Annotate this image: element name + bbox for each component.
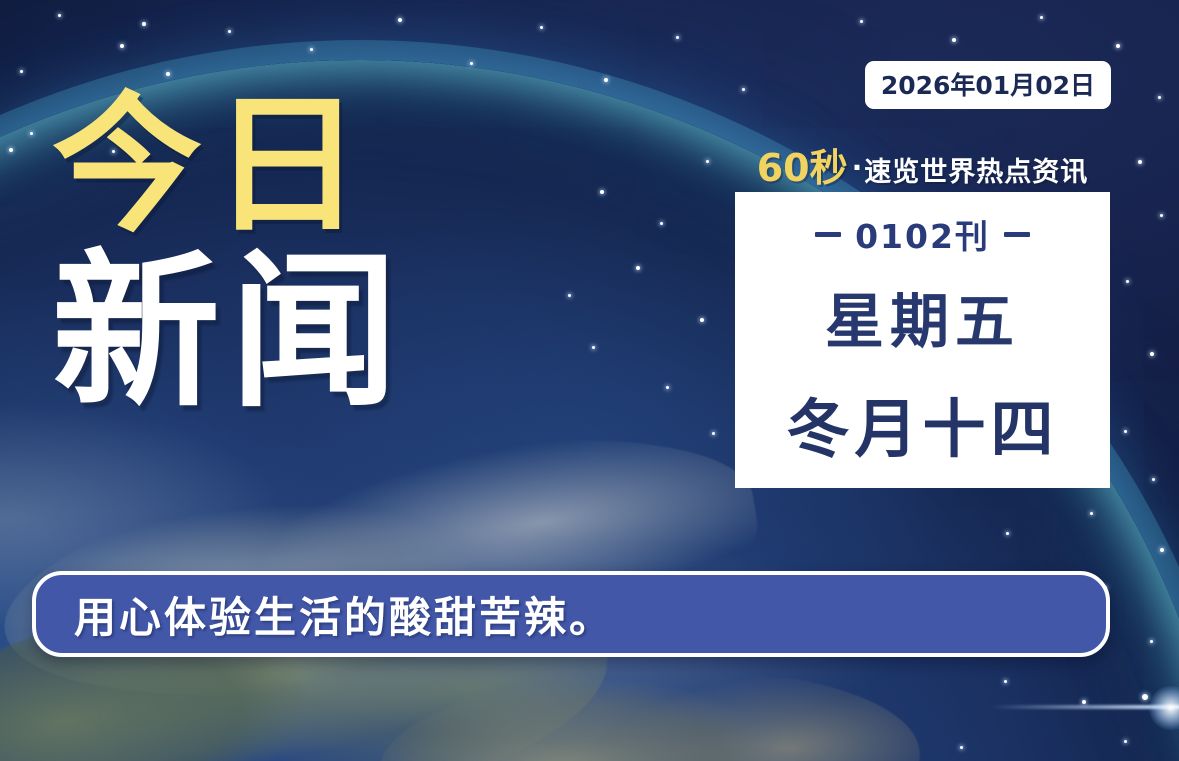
issue-row: 0102刊 — [815, 210, 1030, 258]
tagline-separator: · — [852, 151, 863, 184]
quote-banner: 用心体验生活的酸甜苦辣。 — [32, 571, 1110, 657]
info-card: 0102刊 星期五 冬月十四 — [735, 192, 1110, 488]
poster-title: 今日 新闻 — [52, 94, 408, 413]
page-title-line1: 今日 — [52, 94, 408, 238]
weekday-label: 星期五 — [825, 274, 1020, 359]
news-poster: 今日 新闻 2026年01月02日 60秒·速览世界热点资讯 0102刊 星期五… — [0, 0, 1179, 761]
dash-decoration-icon — [1004, 232, 1030, 237]
dash-decoration-icon — [815, 232, 841, 237]
tagline-text: 速览世界热点资讯 — [864, 157, 1088, 188]
page-title-line2: 新闻 — [52, 252, 408, 413]
tagline-seconds: 60秒 — [757, 146, 848, 190]
issue-number: 0102刊 — [855, 210, 990, 258]
quote-text: 用心体验生活的酸甜苦辣。 — [36, 584, 614, 645]
tagline: 60秒·速览世界热点资讯 — [735, 137, 1110, 192]
date-badge: 2026年01月02日 — [865, 61, 1111, 109]
lunar-date-label: 冬月十四 — [787, 379, 1059, 470]
